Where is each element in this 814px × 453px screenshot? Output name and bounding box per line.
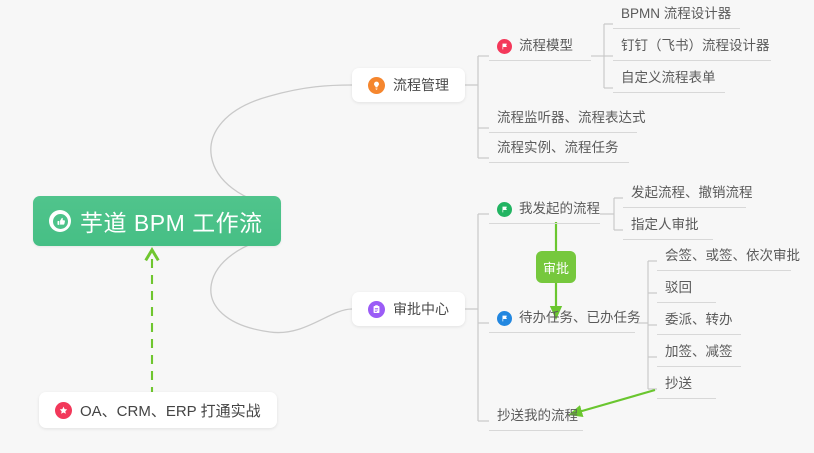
flag-icon: [497, 311, 512, 326]
node-countersign[interactable]: 会签、或签、依次审批: [657, 245, 791, 271]
node-delegate-transfer[interactable]: 委派、转办: [657, 309, 741, 335]
node-label-process-listener: 流程监听器、流程表达式: [497, 108, 646, 128]
branch-label-process-management: 流程管理: [393, 75, 449, 95]
node-add-remove-sign[interactable]: 加签、减签: [657, 341, 741, 367]
node-label-process-model: 流程模型: [519, 36, 573, 56]
branch-label-approval-center: 审批中心: [393, 299, 449, 319]
node-process-model[interactable]: 流程模型: [489, 35, 591, 61]
node-reject[interactable]: 驳回: [657, 277, 716, 303]
flag-icon: [497, 39, 512, 54]
lightbulb-icon: [368, 77, 385, 94]
flag-icon: [497, 202, 512, 217]
link-root-to-process-management: [211, 85, 352, 207]
node-label-reject: 驳回: [665, 278, 692, 298]
clipboard-icon: [368, 301, 385, 318]
node-label-todo-done-tasks: 待办任务、已办任务: [519, 308, 641, 328]
star-icon: [55, 402, 72, 419]
node-label-bpmn-designer: BPMN 流程设计器: [621, 4, 731, 24]
node-label-start-cancel-process: 发起流程、撤销流程: [631, 183, 753, 203]
note-node[interactable]: OA、CRM、ERP 打通实战: [39, 392, 277, 428]
node-label-delegate-transfer: 委派、转办: [665, 310, 733, 330]
node-bpmn-designer[interactable]: BPMN 流程设计器: [613, 3, 740, 29]
note-label: OA、CRM、ERP 打通实战: [80, 400, 261, 421]
node-label-my-initiated: 我发起的流程: [519, 199, 600, 219]
node-process-listener[interactable]: 流程监听器、流程表达式: [489, 107, 637, 133]
node-label-dingtalk-designer: 钉钉（飞书）流程设计器: [621, 36, 770, 56]
approval-badge-label: 审批: [543, 258, 569, 277]
node-label-cc: 抄送: [665, 374, 692, 394]
node-cc[interactable]: 抄送: [657, 373, 716, 399]
node-my-initiated[interactable]: 我发起的流程: [489, 198, 600, 224]
node-todo-done-tasks[interactable]: 待办任务、已办任务: [489, 307, 635, 333]
node-label-add-remove-sign: 加签、减签: [665, 342, 733, 362]
node-label-assignee-approval: 指定人审批: [631, 215, 699, 235]
thumbs-up-icon: [49, 210, 71, 232]
node-cc-to-me[interactable]: 抄送我的流程: [489, 405, 583, 431]
branch-node-approval-center[interactable]: 审批中心: [352, 292, 465, 326]
root-label: 芋道 BPM 工作流: [80, 204, 263, 238]
node-custom-form[interactable]: 自定义流程表单: [613, 67, 725, 93]
root-node[interactable]: 芋道 BPM 工作流: [33, 196, 281, 246]
link-root-to-approval-center: [211, 236, 352, 333]
branch-node-process-management[interactable]: 流程管理: [352, 68, 465, 102]
node-dingtalk-designer[interactable]: 钉钉（飞书）流程设计器: [613, 35, 771, 61]
node-label-custom-form: 自定义流程表单: [621, 68, 716, 88]
approval-badge[interactable]: 审批: [536, 251, 576, 283]
mindmap-canvas: 芋道 BPM 工作流 OA、CRM、ERP 打通实战 流程管理 流程模型: [0, 0, 814, 453]
node-label-process-instance: 流程实例、流程任务: [497, 138, 619, 158]
node-label-cc-to-me: 抄送我的流程: [497, 406, 578, 426]
node-label-countersign: 会签、或签、依次审批: [665, 246, 800, 266]
node-process-instance[interactable]: 流程实例、流程任务: [489, 137, 629, 163]
node-assignee-approval[interactable]: 指定人审批: [623, 214, 713, 240]
node-start-cancel-process[interactable]: 发起流程、撤销流程: [623, 182, 746, 208]
flow-arrow-cc-to-my-cc: [575, 390, 655, 413]
